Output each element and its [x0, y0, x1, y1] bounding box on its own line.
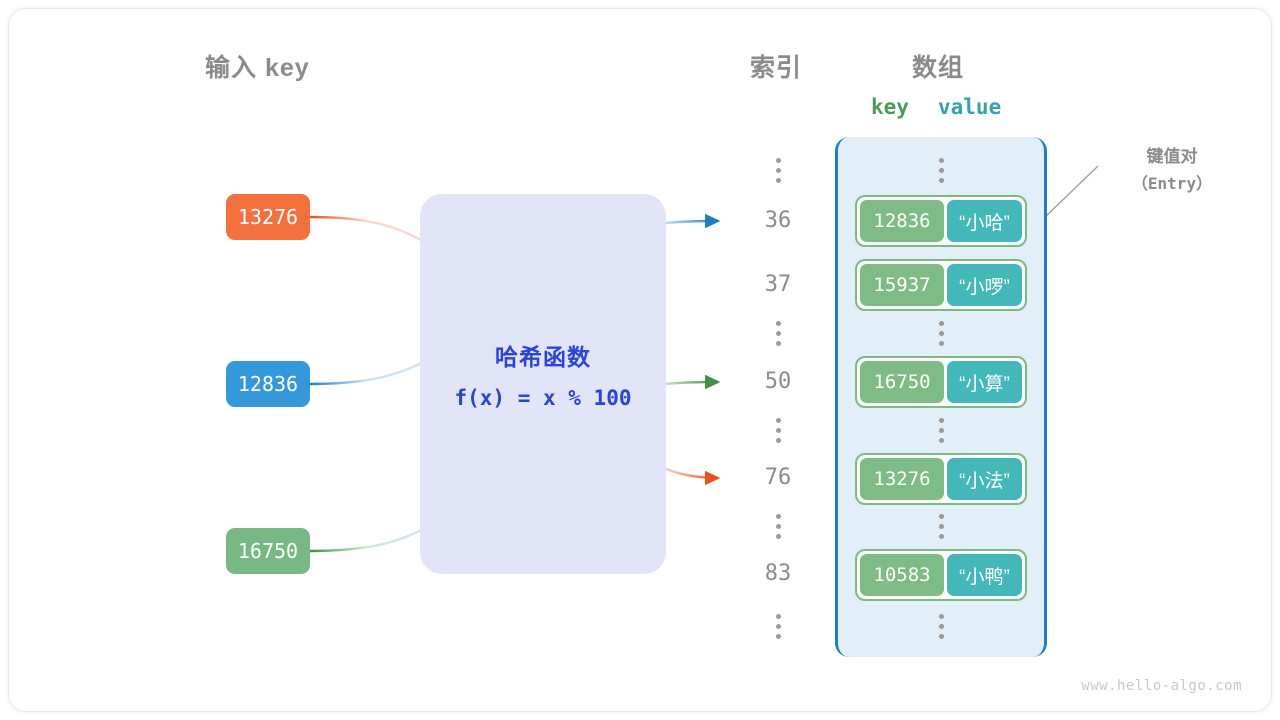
entry-value: “小法” [947, 458, 1022, 500]
array-ellipsis-icon [855, 158, 1027, 183]
index-label-50: 50 [735, 369, 821, 394]
entry-key: 16750 [860, 361, 944, 403]
hash-function-formula: f(x) = x % 100 [420, 386, 666, 410]
index-label-83: 83 [735, 561, 821, 586]
index-ellipsis-icon [735, 321, 821, 346]
hash-function-box: 哈希函数 f(x) = x % 100 [420, 194, 666, 574]
input-key-chip-13276[interactable]: 13276 [226, 194, 310, 240]
entry-key: 12836 [860, 200, 944, 242]
entry-key: 13276 [860, 458, 944, 500]
diagram-canvas: 输入 key 索引 数组 key value [0, 0, 1280, 720]
entry-value: “小鸭” [947, 554, 1022, 596]
array-ellipsis-icon [855, 321, 1027, 346]
table-row[interactable]: 12836 “小哈” [855, 195, 1027, 247]
array-ellipsis-icon [855, 418, 1027, 443]
index-ellipsis-icon [735, 418, 821, 443]
index-label-76: 76 [735, 465, 821, 490]
hash-function-title: 哈希函数 [420, 338, 666, 372]
table-row[interactable]: 15937 “小啰” [855, 259, 1027, 311]
array-ellipsis-icon [855, 514, 1027, 539]
entry-value: “小算” [947, 361, 1022, 403]
entry-key: 10583 [860, 554, 944, 596]
table-row[interactable]: 13276 “小法” [855, 453, 1027, 505]
entry-value: “小啰” [947, 264, 1022, 306]
input-key-chip-12836[interactable]: 12836 [226, 361, 310, 407]
input-key-chip-16750[interactable]: 16750 [226, 528, 310, 574]
annotation-line-1: 键值对 [1092, 143, 1252, 170]
index-label-37: 37 [735, 272, 821, 297]
index-label-36: 36 [735, 208, 821, 233]
table-row[interactable]: 16750 “小算” [855, 356, 1027, 408]
watermark: www.hello-algo.com [1081, 678, 1242, 694]
entry-annotation: 键值对 （Entry） [1092, 143, 1252, 197]
annotation-line-2: （Entry） [1092, 170, 1252, 197]
index-ellipsis-icon [735, 614, 821, 639]
index-ellipsis-icon [735, 158, 821, 183]
annotation-leader-line [1043, 166, 1098, 219]
entry-key: 15937 [860, 264, 944, 306]
table-row[interactable]: 10583 “小鸭” [855, 549, 1027, 601]
array-ellipsis-icon [855, 614, 1027, 639]
entry-value: “小哈” [947, 200, 1022, 242]
index-ellipsis-icon [735, 514, 821, 539]
